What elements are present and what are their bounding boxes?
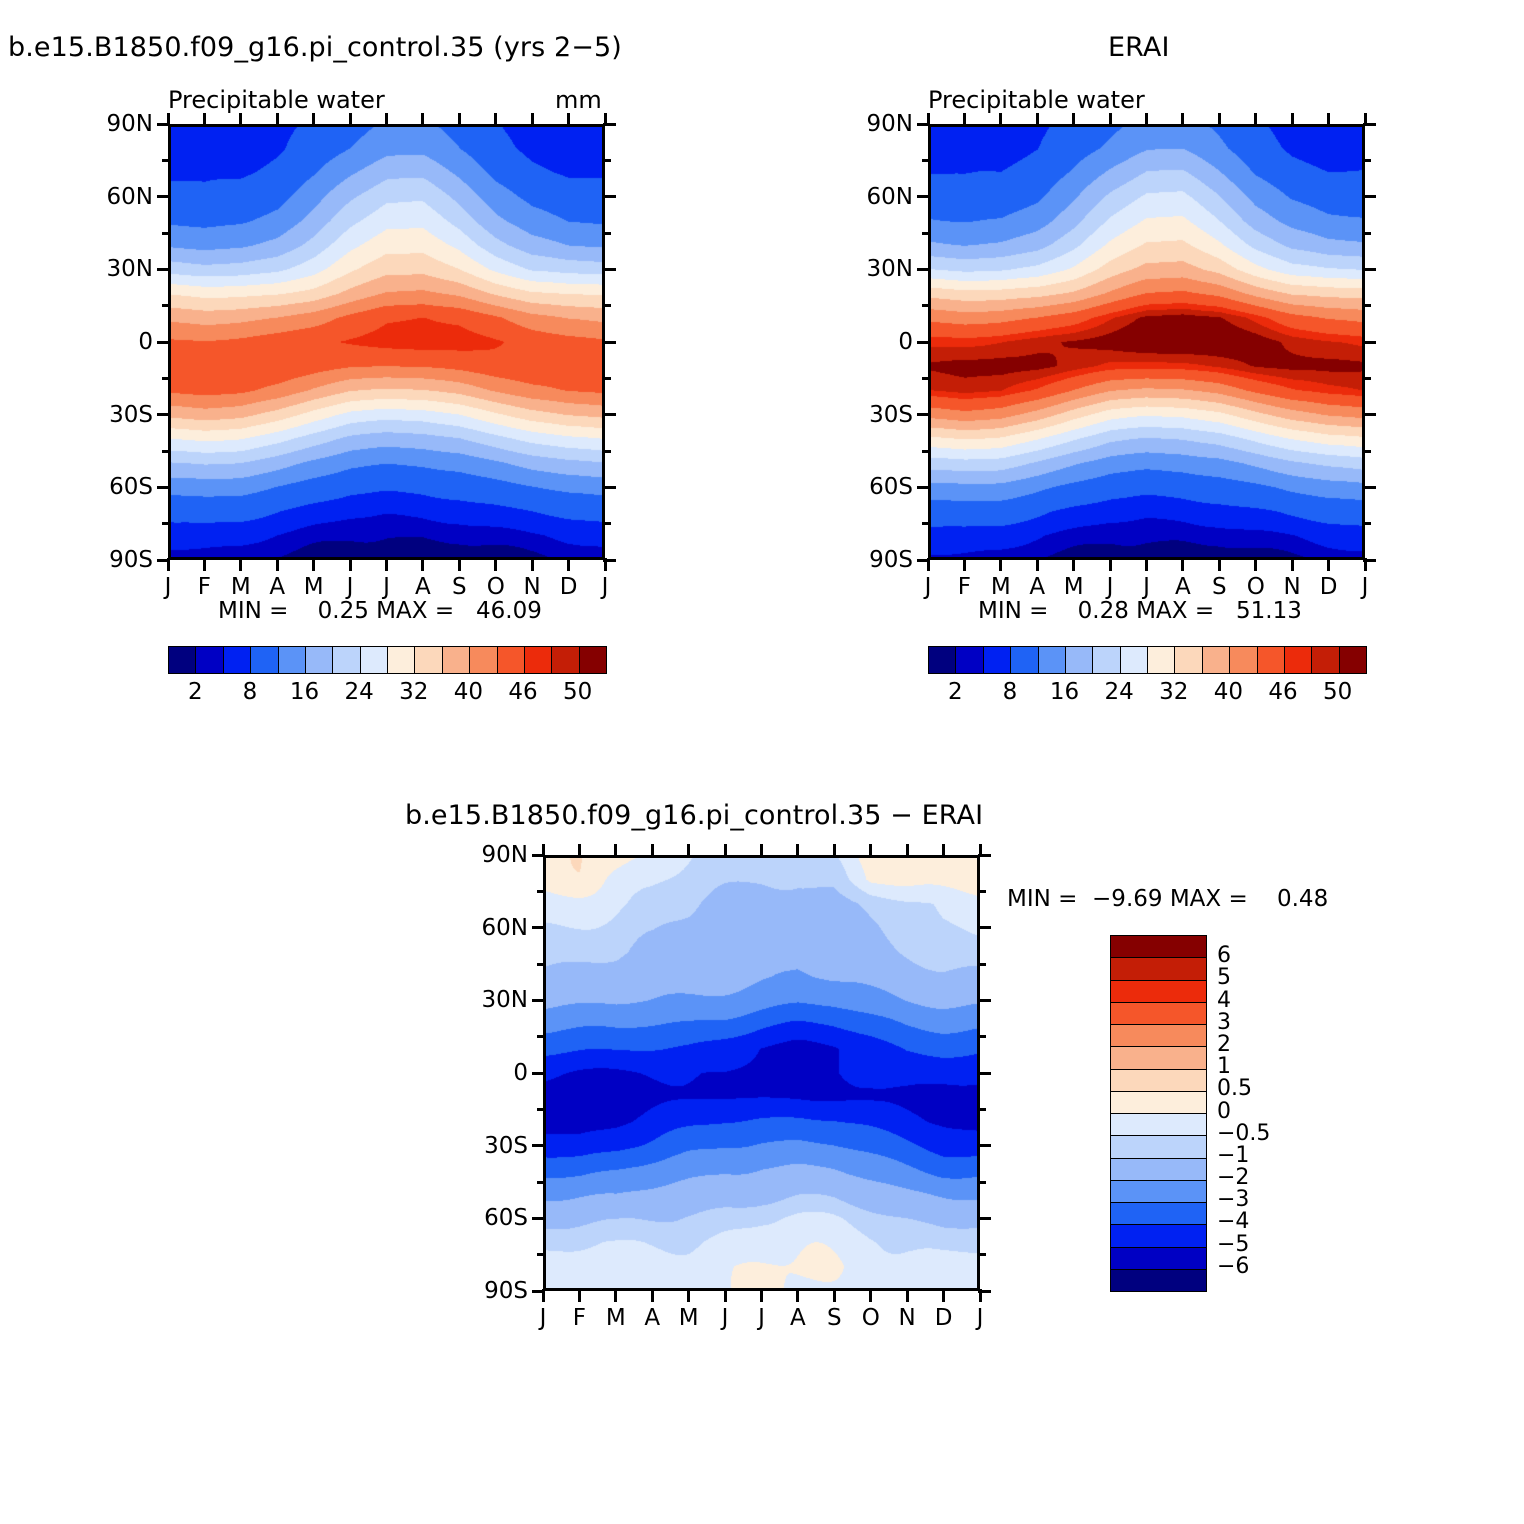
x-axis-label: S xyxy=(1204,576,1234,599)
x-tick xyxy=(578,844,581,857)
x-tick xyxy=(1327,113,1330,126)
y-axis-label: 60N xyxy=(83,186,153,209)
colorbar-swatch[interactable] xyxy=(956,647,983,673)
colorbar-swatch[interactable] xyxy=(525,647,552,673)
x-axis-label: N xyxy=(517,576,547,599)
colorbar-tick-label: 2 xyxy=(165,681,225,704)
y-major-tick xyxy=(978,1144,991,1147)
colorbar-tick-label: 40 xyxy=(438,681,498,704)
x-tick xyxy=(167,113,170,126)
x-tick xyxy=(1145,113,1148,126)
y-minor-tick xyxy=(162,522,170,525)
x-tick xyxy=(276,558,279,571)
y-major-tick xyxy=(917,413,930,416)
x-tick xyxy=(942,844,945,857)
colorbar-swatch[interactable] xyxy=(1312,647,1339,673)
x-tick xyxy=(724,844,727,857)
colorbar-swatch[interactable] xyxy=(1111,1181,1206,1203)
colorbar-swatch[interactable] xyxy=(1111,1003,1206,1025)
x-tick xyxy=(312,113,315,126)
x-tick xyxy=(1291,113,1294,126)
colorbar-tick-label: 8 xyxy=(980,681,1040,704)
colorbar-tick-label: 32 xyxy=(1144,681,1204,704)
model-panel-subtitle: Precipitable water xyxy=(168,88,385,112)
colorbar-tick-label: 2 xyxy=(1217,1034,1231,1056)
colorbar-swatch[interactable] xyxy=(1111,1159,1206,1181)
colorbar-swatch[interactable] xyxy=(415,647,442,673)
colorbar-swatch[interactable] xyxy=(1111,981,1206,1003)
x-tick xyxy=(979,844,982,857)
panel-obs: ERAI Precipitable water 90N60N30N030S60S… xyxy=(760,0,1460,720)
model-panel-title: b.e15.B1850.f09_g16.pi_control.35 (yrs 2… xyxy=(8,34,622,61)
x-axis-label: J xyxy=(1350,576,1380,599)
x-tick xyxy=(276,113,279,126)
y-axis-label: 0 xyxy=(83,331,153,354)
x-axis-label: F xyxy=(189,576,219,599)
y-minor-tick xyxy=(603,522,611,525)
diff-panel-title: b.e15.B1850.f09_g16.pi_control.35 − ERAI xyxy=(405,802,983,829)
x-tick xyxy=(1109,113,1112,126)
x-axis-label: F xyxy=(564,1307,594,1330)
y-minor-tick xyxy=(1363,450,1371,453)
x-tick xyxy=(963,113,966,126)
colorbar-swatch[interactable] xyxy=(388,647,415,673)
x-tick xyxy=(1364,558,1367,571)
x-axis-label: D xyxy=(1314,576,1344,599)
y-minor-tick xyxy=(1363,304,1371,307)
model-colorbar[interactable] xyxy=(168,646,607,674)
x-axis-label: D xyxy=(554,576,584,599)
colorbar-swatch[interactable] xyxy=(1111,1092,1206,1114)
x-tick xyxy=(1364,113,1367,126)
x-tick xyxy=(760,1289,763,1302)
colorbar-swatch[interactable] xyxy=(552,647,579,673)
y-major-tick xyxy=(603,486,616,489)
x-tick xyxy=(203,558,206,571)
y-minor-tick xyxy=(162,450,170,453)
y-major-tick xyxy=(1363,268,1376,271)
y-minor-tick xyxy=(1363,232,1371,235)
y-major-tick xyxy=(532,1072,545,1075)
colorbar-swatch[interactable] xyxy=(1111,1114,1206,1136)
colorbar-tick-label: −3 xyxy=(1217,1189,1249,1211)
y-axis-label: 90S xyxy=(843,549,913,572)
x-tick xyxy=(385,113,388,126)
model-minmax-text: MIN = 0.25 MAX = 46.09 xyxy=(218,600,542,623)
colorbar-swatch[interactable] xyxy=(1111,1070,1206,1092)
y-major-tick xyxy=(978,999,991,1002)
y-minor-tick xyxy=(537,963,545,966)
y-minor-tick xyxy=(978,963,986,966)
y-axis-label: 30N xyxy=(83,258,153,281)
y-minor-tick xyxy=(922,522,930,525)
y-minor-tick xyxy=(537,890,545,893)
colorbar-tick-label: 46 xyxy=(493,681,553,704)
colorbar-swatch[interactable] xyxy=(1011,647,1038,673)
x-tick xyxy=(421,558,424,571)
x-tick xyxy=(651,1289,654,1302)
y-major-tick xyxy=(917,486,930,489)
colorbar-swatch[interactable] xyxy=(1093,647,1120,673)
x-tick xyxy=(203,113,206,126)
y-major-tick xyxy=(532,1217,545,1220)
x-tick xyxy=(458,113,461,126)
colorbar-swatch[interactable] xyxy=(196,647,223,673)
colorbar-swatch[interactable] xyxy=(1111,958,1206,980)
y-minor-tick xyxy=(537,1035,545,1038)
x-tick xyxy=(963,558,966,571)
x-tick xyxy=(349,113,352,126)
colorbar-swatch[interactable] xyxy=(1111,1025,1206,1047)
x-tick xyxy=(687,844,690,857)
y-major-tick xyxy=(978,1072,991,1075)
x-axis-label: J xyxy=(372,576,402,599)
colorbar-tick-label: 50 xyxy=(1308,681,1368,704)
x-tick xyxy=(1109,558,1112,571)
colorbar-tick-label: 2 xyxy=(925,681,985,704)
y-minor-tick xyxy=(537,1108,545,1111)
y-minor-tick xyxy=(603,377,611,380)
y-minor-tick xyxy=(922,377,930,380)
x-tick xyxy=(724,1289,727,1302)
x-tick xyxy=(927,558,930,571)
x-tick xyxy=(604,113,607,126)
y-minor-tick xyxy=(1363,377,1371,380)
x-tick xyxy=(687,1289,690,1302)
y-minor-tick xyxy=(603,232,611,235)
colorbar-swatch[interactable] xyxy=(279,647,306,673)
x-tick xyxy=(542,844,545,857)
x-tick xyxy=(494,113,497,126)
obs-panel-subtitle: Precipitable water xyxy=(928,88,1145,112)
x-tick xyxy=(979,1289,982,1302)
colorbar-swatch[interactable] xyxy=(580,647,606,673)
x-axis-label: M xyxy=(299,576,329,599)
x-axis-label: J xyxy=(965,1307,995,1330)
x-tick xyxy=(385,558,388,571)
x-tick xyxy=(942,1289,945,1302)
obs-plot-area xyxy=(928,124,1365,560)
x-axis-label: J xyxy=(335,576,365,599)
x-axis-label: N xyxy=(892,1307,922,1330)
y-axis-label: 90S xyxy=(83,549,153,572)
x-tick xyxy=(1145,558,1148,571)
colorbar-tick-label: 16 xyxy=(275,681,335,704)
colorbar-swatch[interactable] xyxy=(1111,1203,1206,1225)
colorbar-tick-label: 40 xyxy=(1198,681,1258,704)
y-minor-tick xyxy=(978,1253,986,1256)
x-axis-label: A xyxy=(1022,576,1052,599)
colorbar-tick-label: 4 xyxy=(1217,990,1231,1012)
x-axis-label: J xyxy=(590,576,620,599)
x-tick xyxy=(796,1289,799,1302)
colorbar-swatch[interactable] xyxy=(984,647,1011,673)
model-units-label: mm xyxy=(555,88,602,112)
y-major-tick xyxy=(157,195,170,198)
y-major-tick xyxy=(603,268,616,271)
colorbar-swatch[interactable] xyxy=(1175,647,1202,673)
x-tick xyxy=(604,558,607,571)
y-major-tick xyxy=(532,1144,545,1147)
x-tick xyxy=(999,558,1002,571)
x-tick xyxy=(458,558,461,571)
x-axis-label: M xyxy=(1059,576,1089,599)
x-axis-label: D xyxy=(929,1307,959,1330)
colorbar-swatch[interactable] xyxy=(169,647,196,673)
diff-plot-area xyxy=(543,855,980,1291)
x-axis-label: S xyxy=(819,1307,849,1330)
colorbar-tick-label: −0.5 xyxy=(1217,1123,1270,1145)
y-minor-tick xyxy=(603,159,611,162)
colorbar-swatch[interactable] xyxy=(470,647,497,673)
y-minor-tick xyxy=(1363,159,1371,162)
x-axis-label: J xyxy=(1095,576,1125,599)
y-major-tick xyxy=(157,413,170,416)
x-tick xyxy=(1291,558,1294,571)
y-major-tick xyxy=(1363,341,1376,344)
x-tick xyxy=(1254,558,1257,571)
x-tick xyxy=(999,113,1002,126)
x-axis-label: A xyxy=(1168,576,1198,599)
diff-colorbar[interactable] xyxy=(1110,935,1207,1292)
x-tick xyxy=(542,1289,545,1302)
x-axis-label: A xyxy=(783,1307,813,1330)
colorbar-swatch[interactable] xyxy=(1340,647,1366,673)
obs-colorbar[interactable] xyxy=(928,646,1367,674)
model-plot-area xyxy=(168,124,605,560)
x-tick xyxy=(567,113,570,126)
colorbar-swatch[interactable] xyxy=(1111,1248,1206,1270)
colorbar-swatch[interactable] xyxy=(1258,647,1285,673)
y-major-tick xyxy=(532,926,545,929)
x-axis-label: J xyxy=(153,576,183,599)
y-axis-label: 30S xyxy=(843,404,913,427)
y-major-tick xyxy=(917,268,930,271)
x-tick xyxy=(1218,558,1221,571)
obs-panel-title: ERAI xyxy=(1108,34,1170,61)
y-minor-tick xyxy=(922,232,930,235)
colorbar-tick-label: 24 xyxy=(329,681,389,704)
colorbar-swatch[interactable] xyxy=(224,647,251,673)
colorbar-tick-label: 5 xyxy=(1217,967,1231,989)
colorbar-tick-label: 0.5 xyxy=(1217,1078,1252,1100)
colorbar-tick-label: −2 xyxy=(1217,1167,1249,1189)
x-tick xyxy=(906,1289,909,1302)
x-tick xyxy=(1072,558,1075,571)
panel-diff: b.e15.B1850.f09_g16.pi_control.35 − ERAI… xyxy=(0,780,1524,1524)
colorbar-swatch[interactable] xyxy=(1111,1047,1206,1069)
x-tick xyxy=(1254,113,1257,126)
y-major-tick xyxy=(532,999,545,1002)
colorbar-swatch[interactable] xyxy=(333,647,360,673)
x-tick xyxy=(494,558,497,571)
colorbar-swatch[interactable] xyxy=(1111,1136,1206,1158)
x-tick xyxy=(833,844,836,857)
x-tick xyxy=(651,844,654,857)
x-tick xyxy=(421,113,424,126)
y-minor-tick xyxy=(537,1253,545,1256)
x-tick xyxy=(614,844,617,857)
colorbar-tick-label: 32 xyxy=(384,681,444,704)
x-tick xyxy=(349,558,352,571)
x-axis-label: M xyxy=(226,576,256,599)
obs-minmax-text: MIN = 0.28 MAX = 51.13 xyxy=(978,600,1302,623)
colorbar-swatch[interactable] xyxy=(1111,936,1206,958)
x-tick xyxy=(1218,113,1221,126)
y-major-tick xyxy=(1363,486,1376,489)
y-axis-label: 30N xyxy=(843,258,913,281)
x-tick xyxy=(1036,113,1039,126)
x-tick xyxy=(1181,558,1184,571)
x-tick xyxy=(796,844,799,857)
x-axis-label: M xyxy=(601,1307,631,1330)
y-major-tick xyxy=(1363,413,1376,416)
colorbar-swatch[interactable] xyxy=(1203,647,1230,673)
y-axis-label: 60S xyxy=(843,476,913,499)
x-axis-label: S xyxy=(444,576,474,599)
colorbar-tick-label: 50 xyxy=(548,681,608,704)
y-axis-label: 30S xyxy=(458,1135,528,1158)
y-axis-label: 60N xyxy=(458,917,528,940)
x-tick xyxy=(239,558,242,571)
x-axis-label: J xyxy=(710,1307,740,1330)
y-minor-tick xyxy=(922,304,930,307)
y-major-tick xyxy=(157,341,170,344)
y-minor-tick xyxy=(603,304,611,307)
y-minor-tick xyxy=(978,1181,986,1184)
x-tick xyxy=(760,844,763,857)
x-axis-label: J xyxy=(528,1307,558,1330)
x-tick xyxy=(1181,113,1184,126)
x-axis-label: J xyxy=(913,576,943,599)
colorbar-swatch[interactable] xyxy=(1148,647,1175,673)
x-axis-label: O xyxy=(856,1307,886,1330)
colorbar-swatch[interactable] xyxy=(929,647,956,673)
y-axis-label: 30S xyxy=(83,404,153,427)
x-tick xyxy=(578,1289,581,1302)
colorbar-swatch[interactable] xyxy=(306,647,333,673)
colorbar-tick-label: 6 xyxy=(1217,945,1231,967)
x-axis-label: A xyxy=(637,1307,667,1330)
colorbar-swatch[interactable] xyxy=(498,647,525,673)
x-axis-label: A xyxy=(262,576,292,599)
x-tick xyxy=(239,113,242,126)
x-tick xyxy=(1072,113,1075,126)
y-major-tick xyxy=(157,268,170,271)
x-tick xyxy=(167,558,170,571)
colorbar-tick-label: 8 xyxy=(220,681,280,704)
y-major-tick xyxy=(603,195,616,198)
y-minor-tick xyxy=(978,1035,986,1038)
y-major-tick xyxy=(1363,195,1376,198)
x-axis-label: J xyxy=(1132,576,1162,599)
y-axis-label: 90N xyxy=(83,113,153,136)
y-major-tick xyxy=(917,341,930,344)
x-axis-label: M xyxy=(674,1307,704,1330)
colorbar-tick-label: 0 xyxy=(1217,1101,1231,1123)
colorbar-tick-label: 46 xyxy=(1253,681,1313,704)
y-major-tick xyxy=(978,926,991,929)
x-axis-label: J xyxy=(747,1307,777,1330)
diff-minmax-text: MIN = −9.69 MAX = 0.48 xyxy=(1007,888,1328,911)
x-tick xyxy=(1036,558,1039,571)
colorbar-tick-label: 1 xyxy=(1217,1056,1231,1078)
colorbar-swatch[interactable] xyxy=(443,647,470,673)
y-minor-tick xyxy=(162,159,170,162)
y-major-tick xyxy=(157,486,170,489)
y-minor-tick xyxy=(922,159,930,162)
colorbar-tick-label: −6 xyxy=(1217,1256,1249,1278)
x-tick xyxy=(906,844,909,857)
y-minor-tick xyxy=(162,304,170,307)
x-tick xyxy=(1327,558,1330,571)
y-major-tick xyxy=(603,341,616,344)
y-major-tick xyxy=(603,413,616,416)
y-axis-label: 0 xyxy=(458,1062,528,1085)
y-minor-tick xyxy=(978,890,986,893)
colorbar-swatch[interactable] xyxy=(251,647,278,673)
y-minor-tick xyxy=(978,1108,986,1111)
x-tick xyxy=(927,113,930,126)
x-axis-label: M xyxy=(986,576,1016,599)
x-tick xyxy=(869,844,872,857)
plot-model-canvas xyxy=(168,124,605,560)
colorbar-tick-label: −1 xyxy=(1217,1145,1249,1167)
x-tick xyxy=(531,113,534,126)
x-axis-label: N xyxy=(1277,576,1307,599)
y-major-tick xyxy=(917,195,930,198)
colorbar-tick-label: −5 xyxy=(1217,1234,1249,1256)
y-axis-label: 0 xyxy=(843,331,913,354)
y-minor-tick xyxy=(162,377,170,380)
y-minor-tick xyxy=(603,450,611,453)
colorbar-swatch[interactable] xyxy=(1285,647,1312,673)
y-minor-tick xyxy=(537,1181,545,1184)
x-tick xyxy=(312,558,315,571)
x-tick xyxy=(614,1289,617,1302)
x-tick xyxy=(869,1289,872,1302)
y-axis-label: 60S xyxy=(458,1207,528,1230)
colorbar-swatch[interactable] xyxy=(1066,647,1093,673)
y-minor-tick xyxy=(162,232,170,235)
colorbar-tick-label: 16 xyxy=(1035,681,1095,704)
colorbar-tick-label: −4 xyxy=(1217,1211,1249,1233)
x-axis-label: O xyxy=(1241,576,1271,599)
panel-model: b.e15.B1850.f09_g16.pi_control.35 (yrs 2… xyxy=(0,0,700,720)
colorbar-swatch[interactable] xyxy=(1111,1270,1206,1291)
y-axis-label: 30N xyxy=(458,989,528,1012)
plot-obs-canvas xyxy=(928,124,1365,560)
x-tick xyxy=(567,558,570,571)
colorbar-swatch[interactable] xyxy=(361,647,388,673)
y-axis-label: 90N xyxy=(458,844,528,867)
x-tick xyxy=(531,558,534,571)
y-axis-label: 60N xyxy=(843,186,913,209)
colorbar-swatch[interactable] xyxy=(1121,647,1148,673)
colorbar-swatch[interactable] xyxy=(1230,647,1257,673)
y-major-tick xyxy=(978,1217,991,1220)
x-axis-label: A xyxy=(408,576,438,599)
y-minor-tick xyxy=(1363,522,1371,525)
colorbar-swatch[interactable] xyxy=(1111,1225,1206,1247)
x-axis-label: O xyxy=(481,576,511,599)
x-axis-label: F xyxy=(949,576,979,599)
colorbar-swatch[interactable] xyxy=(1039,647,1066,673)
y-axis-label: 90N xyxy=(843,113,913,136)
colorbar-tick-label: 3 xyxy=(1217,1012,1231,1034)
colorbar-tick-label: 24 xyxy=(1089,681,1149,704)
x-tick xyxy=(833,1289,836,1302)
